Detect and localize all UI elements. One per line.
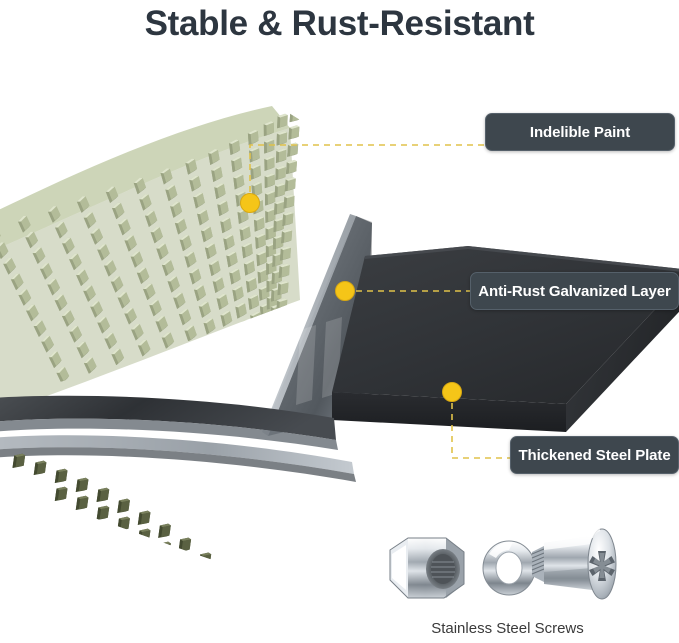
callout-anti-rust-galvanized-layer[interactable]: Anti-Rust Galvanized Layer: [470, 272, 679, 310]
product-illustration: [0, 0, 679, 643]
bolt-icon: [532, 529, 616, 599]
washer-icon: [483, 541, 535, 595]
hex-nut-icon: [390, 538, 464, 598]
callout-thickened-steel-plate[interactable]: Thickened Steel Plate: [510, 436, 679, 474]
callout-label-text: Anti-Rust Galvanized Layer: [478, 283, 670, 300]
marker-dot-galvanized: [336, 282, 355, 301]
callout-indelible-paint[interactable]: Indelible Paint: [485, 113, 675, 151]
marker-dot-steel-plate: [443, 383, 462, 402]
mat-underside: [0, 453, 265, 643]
callout-label-text: Thickened Steel Plate: [518, 447, 670, 464]
hardware-caption: Stainless Steel Screws: [375, 620, 640, 637]
infographic-canvas: Stable & Rust-Resistant: [0, 0, 679, 643]
mat-upper-surface: [0, 106, 301, 416]
marker-dot-indelible-paint: [241, 194, 260, 213]
callout-label-text: Indelible Paint: [530, 124, 630, 141]
